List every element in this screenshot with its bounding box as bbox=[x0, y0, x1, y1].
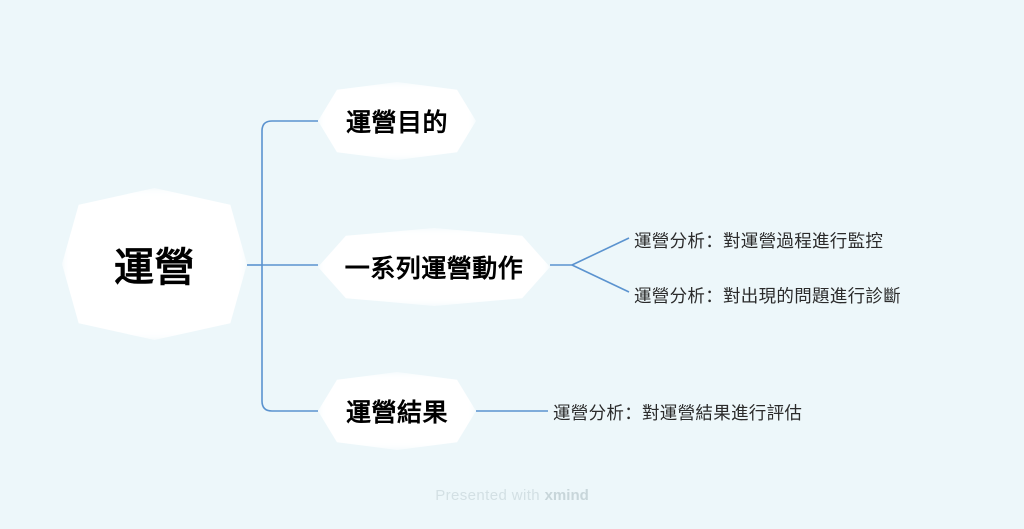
watermark-prefix: Presented with bbox=[435, 487, 544, 504]
central-topic-node[interactable]: 運營 bbox=[62, 188, 247, 340]
branch-label: 運營結果 bbox=[346, 393, 448, 429]
xmind-watermark: Presented with xmind bbox=[0, 487, 1024, 504]
leaf-node-evaluation[interactable]: 運營分析：對運營結果進行評估 bbox=[553, 400, 802, 425]
branch-node-actions[interactable]: 一系列運營動作 bbox=[318, 228, 550, 306]
central-topic-label: 運營 bbox=[114, 235, 195, 293]
branch-node-results[interactable]: 運營結果 bbox=[318, 372, 476, 450]
branch-node-purpose[interactable]: 運營目的 bbox=[318, 82, 476, 160]
branch-label: 運營目的 bbox=[346, 103, 448, 139]
mindmap-canvas: 運營 運營目的 一系列運營動作 運營結果 運營分析：對運營過程進行監控 運營分析… bbox=[0, 0, 1024, 529]
leaf-node-monitoring[interactable]: 運營分析：對運營過程進行監控 bbox=[634, 228, 883, 253]
branch-label: 一系列運營動作 bbox=[345, 249, 524, 285]
leaf-node-diagnosis[interactable]: 運營分析：對出現的問題進行診斷 bbox=[634, 283, 901, 308]
watermark-brand: xmind bbox=[545, 487, 589, 504]
